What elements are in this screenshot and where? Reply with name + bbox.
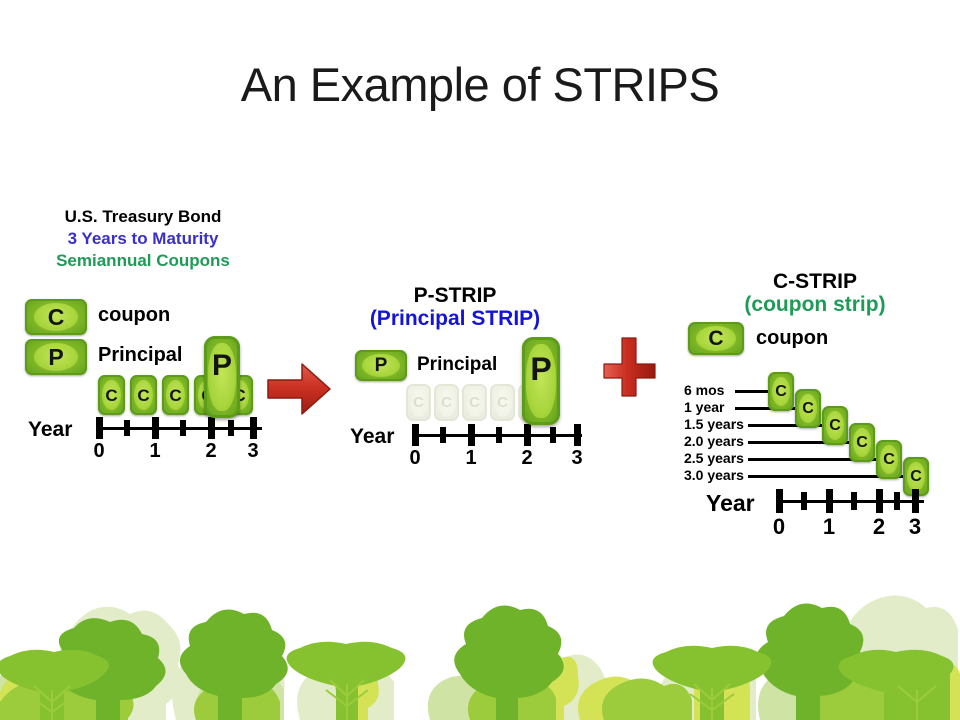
maturity-label-3-0-years: 3.0 years [684,467,744,483]
pstrip-ghost-coupon: C [490,384,515,421]
principal-symbol: P [375,356,388,375]
maturity-label-1-5-years: 1.5 years [684,416,744,432]
timeline-tick [776,489,783,513]
timeline-axis [776,500,924,503]
cstrip-subheading: (coupon strip) [690,293,940,317]
plus-icon [600,330,658,400]
pstrip-legend-principal-bill: P [355,350,407,381]
bond-caption: U.S. Treasury Bond 3 Years to Maturity S… [18,206,268,271]
timeline-tick [440,427,446,443]
coupon-symbol: C [910,469,922,485]
cstrip-heading: C-STRIP [700,270,930,294]
bond-principal-bill: P [204,336,240,418]
timeline-tick [801,492,807,510]
timeline-tick [826,489,833,513]
timeline-label-2: 2 [205,440,216,463]
timeline-tick [550,427,556,443]
timeline-tick [524,424,531,446]
timeline-label-0: 0 [93,440,104,463]
principal-symbol: P [530,353,551,385]
bond-coupon-bill: C [130,375,157,415]
cstrip-coupon-bill: C [849,423,875,462]
coupon-symbol: C [441,395,452,410]
legend-coupon-label: coupon [98,304,170,327]
timeline-tick [912,489,919,513]
cstrip-legend-coupon-bill: C [688,322,744,355]
pstrip-ghost-coupon: C [434,384,459,421]
timeline-tick [894,492,900,510]
legend-principal-bill: P [25,339,87,375]
pstrip-heading: P-STRIP [350,284,560,308]
cstrip-coupon-bill: C [876,440,902,479]
principal-symbol: P [48,346,63,369]
timeline-year-label: Year [28,418,72,442]
pstrip-subheading: (Principal STRIP) [340,307,570,331]
coupon-symbol: C [169,387,181,404]
coupon-symbol: C [708,328,723,349]
coupon-symbol: C [883,452,895,468]
timeline-tick [180,420,186,436]
page-title: An Example of STRIPS [0,57,960,112]
coupon-symbol: C [775,384,787,400]
principal-symbol: P [212,351,232,381]
timeline-axis [96,427,262,430]
maturity-label-1-year: 1 year [684,399,724,415]
cstrip-coupon-bill: C [795,389,821,428]
coupon-symbol: C [856,435,868,451]
bond-caption-line-3: Semiannual Coupons [18,250,268,272]
timeline-label-0: 0 [409,447,420,470]
timeline-year-label: Year [350,425,394,449]
timeline-tick [468,424,475,446]
bond-caption-line-1: U.S. Treasury Bond [18,206,268,228]
pstrip-timeline: Year 0 1 2 3 [350,421,590,467]
timeline-label-1: 1 [823,514,835,540]
timeline-tick [496,427,502,443]
timeline-tick [412,424,419,446]
cstrip-coupon-bill: C [768,372,794,411]
bond-caption-line-2: 3 Years to Maturity [18,228,268,250]
timeline-year-label: Year [706,490,755,517]
timeline-tick [96,417,103,439]
coupon-symbol: C [497,395,508,410]
timeline-tick [228,420,234,436]
timeline-label-3: 3 [909,514,921,540]
timeline-label-1: 1 [465,447,476,470]
maturity-label-2-0-years: 2.0 years [684,433,744,449]
maturity-label-2-5-years: 2.5 years [684,450,744,466]
timeline-tick [574,424,581,446]
coupon-symbol: C [469,395,480,410]
legend-principal-label: Principal [98,344,182,367]
bond-coupon-bill: C [162,375,189,415]
pstrip-principal-bill: P [522,337,560,425]
slide: An Example of STRIPS U.S. Treasury Bond … [0,0,960,720]
bond-coupon-bill: C [98,375,125,415]
timeline-tick [152,417,159,439]
cstrip-coupon-bill: C [822,406,848,445]
tree-silhouette-border [0,580,960,720]
timeline-label-2: 2 [521,447,532,470]
coupon-symbol: C [413,395,424,410]
timeline-tick [851,492,857,510]
timeline-tick [250,417,257,439]
timeline-label-2: 2 [873,514,885,540]
cstrip-timeline: Year 0 1 2 3 [706,485,946,535]
cstrip-legend-label: coupon [756,327,828,350]
timeline-label-3: 3 [247,440,258,463]
right-arrow-icon [266,360,332,418]
timeline-label-1: 1 [149,440,160,463]
coupon-symbol: C [829,418,841,434]
timeline-tick [208,417,215,439]
pstrip-legend-label: Principal [417,354,497,376]
timeline-label-3: 3 [571,447,582,470]
coupon-symbol: C [802,401,814,417]
coupon-symbol: C [137,387,149,404]
bond-timeline: Year 0 1 2 3 [28,414,268,460]
coupon-symbol: C [48,306,65,329]
pstrip-ghost-coupon: C [462,384,487,421]
timeline-tick [124,420,130,436]
timeline-label-0: 0 [773,514,785,540]
coupon-symbol: C [105,387,117,404]
maturity-label-6-mos: 6 mos [684,382,724,398]
legend-coupon-bill: C [25,299,87,335]
pstrip-ghost-coupon: C [406,384,431,421]
timeline-tick [876,489,883,513]
